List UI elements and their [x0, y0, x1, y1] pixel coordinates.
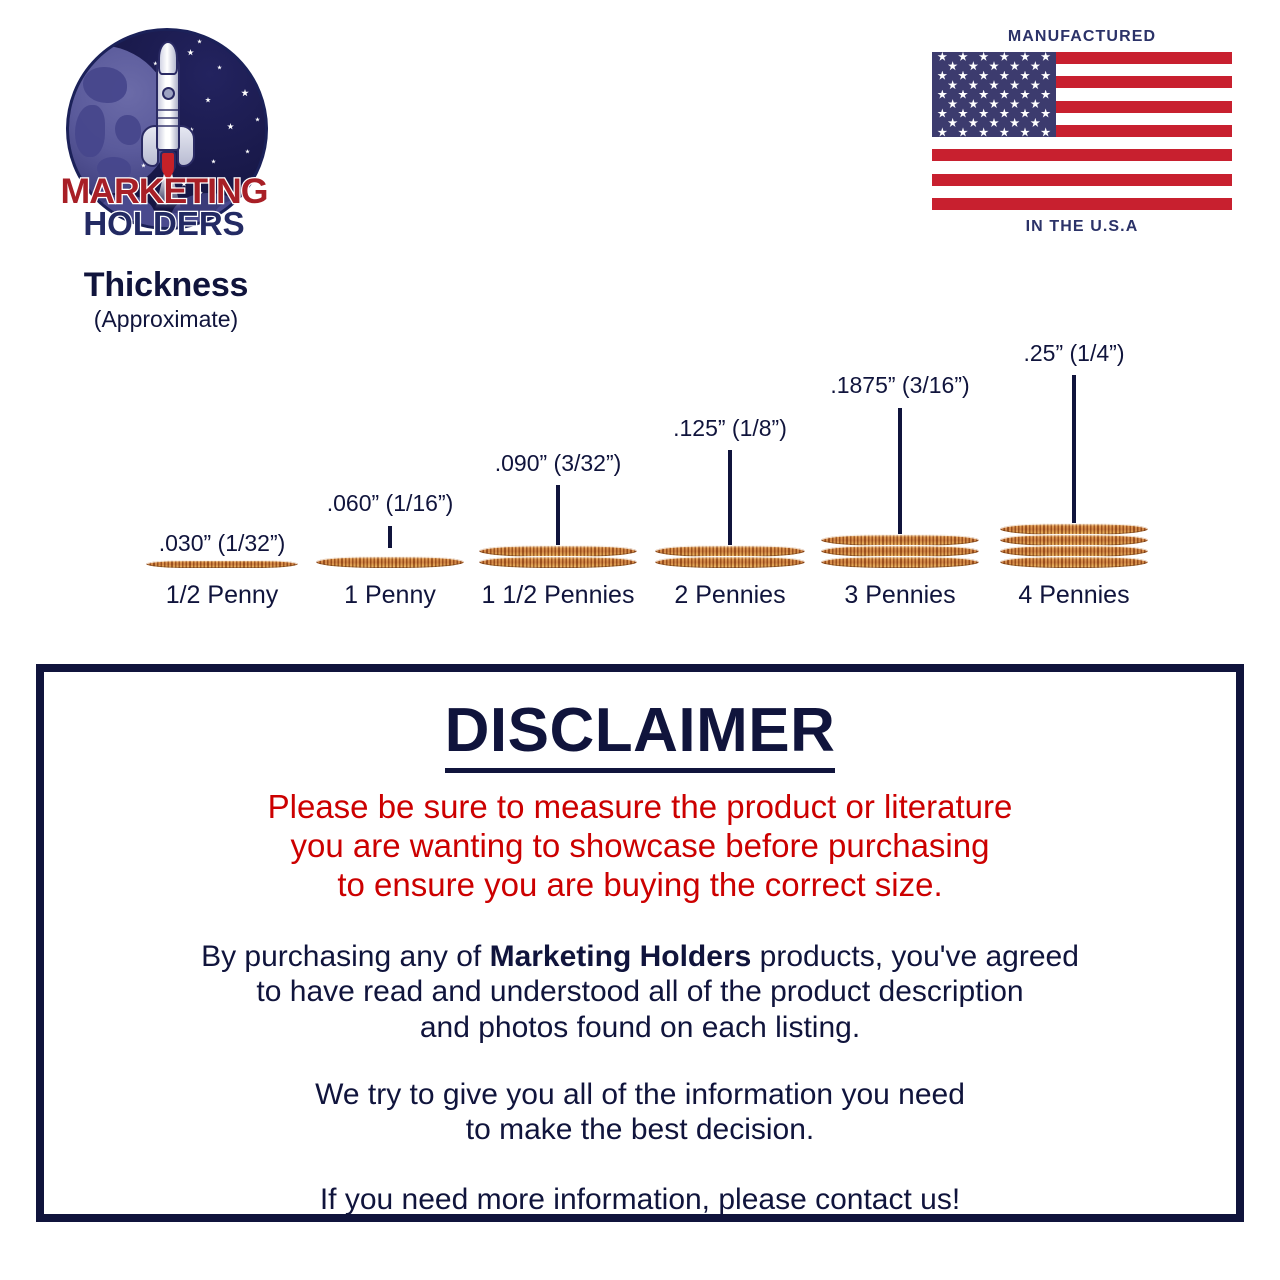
penny-coin — [479, 556, 637, 568]
penny-stack — [1000, 523, 1148, 568]
chart-column-1: .030” (1/32”)1/2 Penny — [127, 330, 317, 620]
penny-stack — [479, 545, 637, 568]
rocket-stripe — [157, 125, 179, 127]
disclaimer-title-text: DISCLAIMER — [445, 696, 836, 773]
rocket-stripe — [157, 117, 179, 119]
chart-column-6: .25” (1/4”)4 Pennies — [979, 330, 1169, 620]
warning-line: to ensure you are buying the correct siz… — [44, 866, 1236, 905]
brand-name: Marketing Holders — [490, 940, 752, 973]
disclaimer-warning: Please be sure to measure the product or… — [44, 788, 1236, 905]
us-flag-icon — [932, 52, 1232, 210]
warning-line: you are wanting to showcase before purch… — [44, 827, 1236, 866]
logo-word-holders: HOLDERS — [48, 205, 280, 243]
penny-coin — [821, 556, 979, 568]
flag-stripe — [932, 149, 1232, 161]
globe-landmass — [83, 67, 127, 103]
flag-stripe — [932, 198, 1232, 210]
leader-line — [388, 526, 392, 548]
agreement-pre: By purchasing any of — [201, 940, 490, 973]
penny-stack — [821, 534, 979, 568]
rocket-window — [162, 87, 175, 100]
page-subtitle: (Approximate) — [36, 306, 296, 333]
agreement-line: to have read and understood all of the p… — [44, 974, 1236, 1009]
brand-logo: MARKETING HOLDERS — [48, 22, 280, 242]
disclaimer-contact: If you need more information, please con… — [44, 1182, 1236, 1217]
disclaimer-title: DISCLAIMER — [44, 700, 1236, 762]
warning-line: Please be sure to measure the product or… — [44, 788, 1236, 827]
globe-landmass — [115, 115, 141, 145]
penny-coin — [655, 556, 805, 568]
agreement-line: and photos found on each listing. — [44, 1010, 1236, 1045]
info-line: We try to give you all of the informatio… — [44, 1077, 1236, 1112]
made-in-usa-badge: MANUFACTURED IN THE U.S.A — [926, 28, 1238, 244]
penny-stack — [655, 545, 805, 568]
flag-stripe — [932, 174, 1232, 186]
globe-landmass — [75, 105, 105, 157]
disclaimer-box: DISCLAIMER Please be sure to measure the… — [36, 664, 1244, 1222]
chart-column-3: .090” (3/32”)1 1/2 Pennies — [463, 330, 653, 620]
disclaimer-agreement: By purchasing any of Marketing Holders p… — [44, 939, 1236, 1045]
in-the-usa-label: IN THE U.S.A — [926, 218, 1238, 236]
penny-stack — [316, 556, 464, 568]
penny-count-label: 4 Pennies — [944, 581, 1204, 610]
contact-line: If you need more information, please con… — [44, 1182, 1236, 1217]
manufactured-label: MANUFACTURED — [926, 28, 1238, 46]
penny-coin — [1000, 556, 1148, 568]
agreement-post: products, you've agreed — [751, 940, 1079, 973]
disclaimer-info: We try to give you all of the informatio… — [44, 1077, 1236, 1148]
agreement-line: By purchasing any of Marketing Holders p… — [44, 939, 1236, 974]
penny-coin — [146, 560, 298, 568]
penny-stack — [146, 560, 298, 568]
thickness-chart: .030” (1/32”)1/2 Penny.060” (1/16”)1 Pen… — [0, 330, 1280, 620]
page-title: Thickness — [36, 266, 296, 305]
rocket-nose — [158, 41, 178, 75]
thickness-label: .25” (1/4”) — [944, 340, 1204, 367]
infographic-page: MARKETING HOLDERS Thickness (Approximate… — [0, 0, 1280, 1280]
chart-column-5: .1875” (3/16”)3 Pennies — [805, 330, 995, 620]
info-line: to make the best decision. — [44, 1112, 1236, 1147]
rocket-stripe — [157, 109, 179, 111]
penny-coin — [316, 556, 464, 568]
